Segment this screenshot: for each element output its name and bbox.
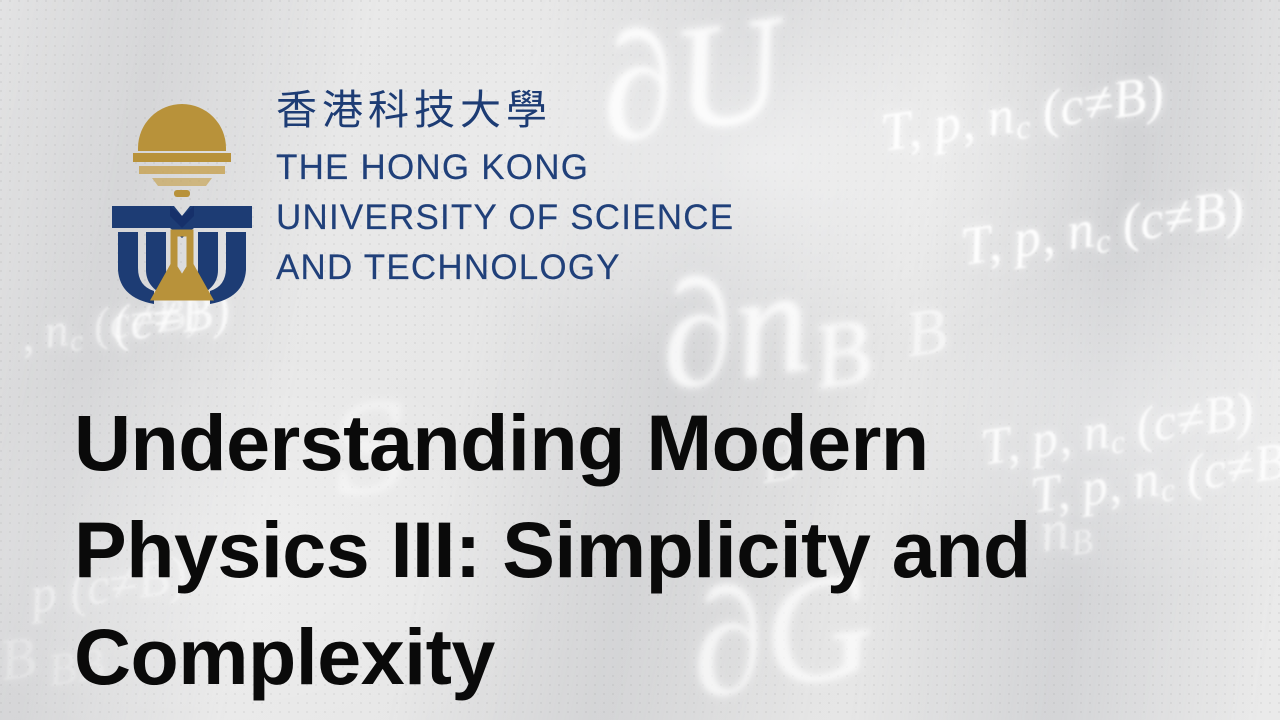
- title-slide: ∂U∂nB∂GT, p, nc (c≠B)T, p, nc (c≠B)T, p,…: [0, 0, 1280, 720]
- slide-title-line-2: Physics III: Simplicity and: [74, 496, 1034, 603]
- hkust-logo-mark: [108, 88, 256, 306]
- watermark-equation: B: [0, 628, 39, 690]
- watermark-equation: T, p, nc (c≠B): [877, 66, 1167, 164]
- slide-title-line-3: Complexity: [74, 603, 1034, 710]
- slide-title-line-1: Understanding Modern: [74, 389, 1034, 496]
- hkust-chinese-name: 香港科技大學: [276, 90, 734, 131]
- hkust-wordmark: 香港科技大學 THE HONG KONG UNIVERSITY OF SCIEN…: [276, 90, 734, 293]
- hkust-english-name: THE HONG KONG UNIVERSITY OF SCIENCE AND …: [276, 143, 734, 293]
- hkust-english-line-2: UNIVERSITY OF SCIENCE: [276, 193, 734, 243]
- hkust-english-line-1: THE HONG KONG: [276, 143, 734, 193]
- hkust-logo: 香港科技大學 THE HONG KONG UNIVERSITY OF SCIEN…: [108, 88, 708, 310]
- hkust-english-line-3: AND TECHNOLOGY: [276, 243, 734, 293]
- slide-title: Understanding Modern Physics III: Simpli…: [74, 389, 1034, 710]
- watermark-equation: nB: [1036, 497, 1095, 566]
- watermark-equation: T, p, nc (c≠B): [957, 180, 1247, 278]
- watermark-equation: B: [902, 298, 951, 369]
